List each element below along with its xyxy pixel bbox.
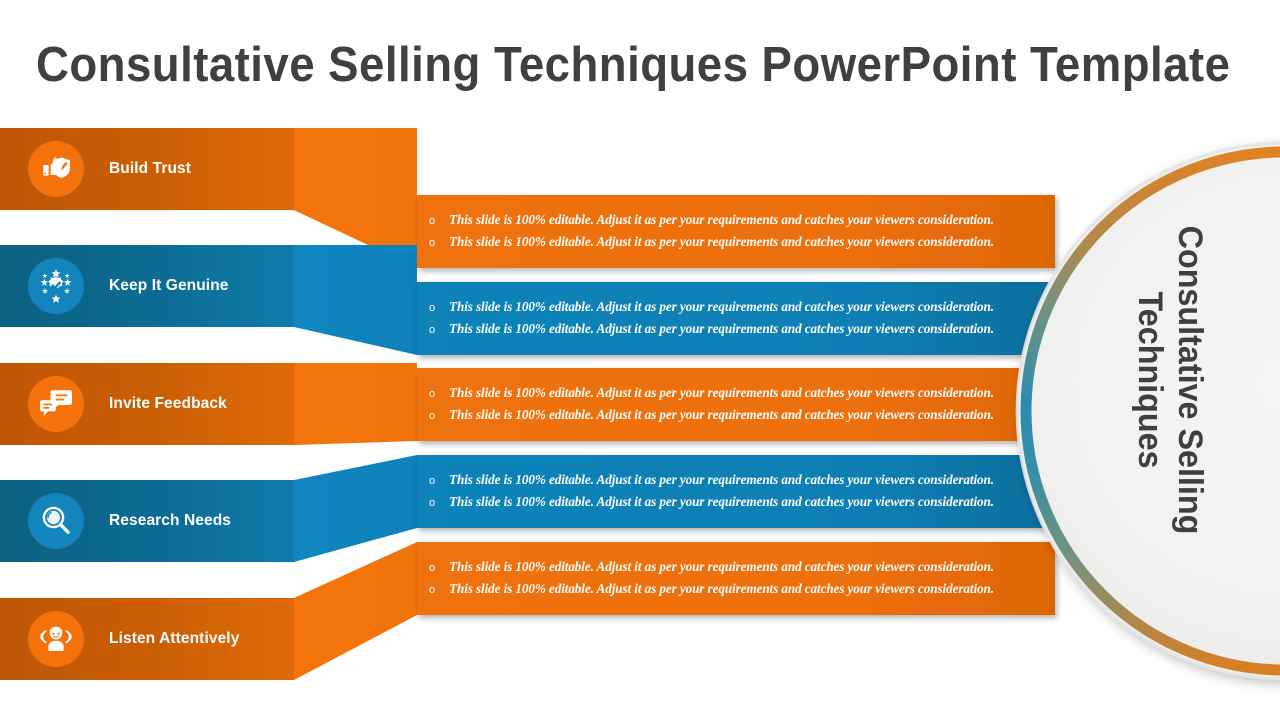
circle-badge[interactable] [1017,143,1280,679]
bullet-marker: o [429,210,449,232]
bullet-marker: o [429,405,449,427]
sidebar-item-build-trust[interactable]: Build Trust [0,128,294,210]
sidebar-item-keep-it-genuine[interactable]: Keep It Genuine [0,245,294,327]
bullet-text: This slide is 100% editable. Adjust it a… [449,407,994,423]
list-item: o This slide is 100% editable. Adjust it… [429,232,1017,254]
content-panel-3: o This slide is 100% editable. Adjust it… [417,368,1017,442]
sidebar-item-label: Keep It Genuine [109,277,229,295]
bullet-text: This slide is 100% editable. Adjust it a… [449,299,994,315]
bullet-text: This slide is 100% editable. Adjust it a… [449,472,994,488]
list-item: o This slide is 100% editable. Adjust it… [429,319,1017,341]
bullet-marker: o [429,470,449,492]
verified-badge-stars-icon [28,258,84,314]
bullet-text: This slide is 100% editable. Adjust it a… [449,385,994,401]
sidebar-item-label: Invite Feedback [109,395,227,413]
content-panel-4: o This slide is 100% editable. Adjust it… [417,455,1017,529]
sidebar-item-invite-feedback[interactable]: Invite Feedback [0,363,294,445]
bullet-marker: o [429,492,449,514]
list-item: o This slide is 100% editable. Adjust it… [429,210,1017,232]
bullet-marker: o [429,319,449,341]
content-panel-2: o This slide is 100% editable. Adjust it… [417,282,1017,356]
list-item: o This slide is 100% editable. Adjust it… [429,383,1017,405]
bullet-text: This slide is 100% editable. Adjust it a… [449,234,994,250]
bullet-text: This slide is 100% editable. Adjust it a… [449,581,994,597]
content-panel-5: o This slide is 100% editable. Adjust it… [417,542,1017,616]
chat-bubbles-icon [28,376,84,432]
sidebar-item-label: Build Trust [109,160,191,178]
bullet-text: This slide is 100% editable. Adjust it a… [449,212,994,228]
slide-canvas: Consultative Selling Techniques PowerPoi… [0,0,1280,720]
list-item: o This slide is 100% editable. Adjust it… [429,297,1017,319]
sidebar-item-label: Research Needs [109,512,231,530]
bullet-marker: o [429,557,449,579]
bullet-marker: o [429,297,449,319]
list-item: o This slide is 100% editable. Adjust it… [429,492,1017,514]
bullet-marker: o [429,383,449,405]
sidebar-item-label: Listen Attentively [109,630,239,648]
bullet-text: This slide is 100% editable. Adjust it a… [449,559,994,575]
bullet-text: This slide is 100% editable. Adjust it a… [449,494,994,510]
magnifying-glass-icon [28,493,84,549]
list-item: o This slide is 100% editable. Adjust it… [429,405,1017,427]
bullet-marker: o [429,579,449,601]
listening-person-icon [28,611,84,667]
content-panel-1: o This slide is 100% editable. Adjust it… [417,195,1017,269]
list-item: o This slide is 100% editable. Adjust it… [429,470,1017,492]
list-item: o This slide is 100% editable. Adjust it… [429,579,1017,601]
bullet-text: This slide is 100% editable. Adjust it a… [449,321,994,337]
bullet-marker: o [429,232,449,254]
sidebar-item-research-needs[interactable]: Research Needs [0,480,294,562]
thumbs-up-shield-icon [28,141,84,197]
list-item: o This slide is 100% editable. Adjust it… [429,557,1017,579]
sidebar-item-listen-attentively[interactable]: Listen Attentively [0,598,294,680]
